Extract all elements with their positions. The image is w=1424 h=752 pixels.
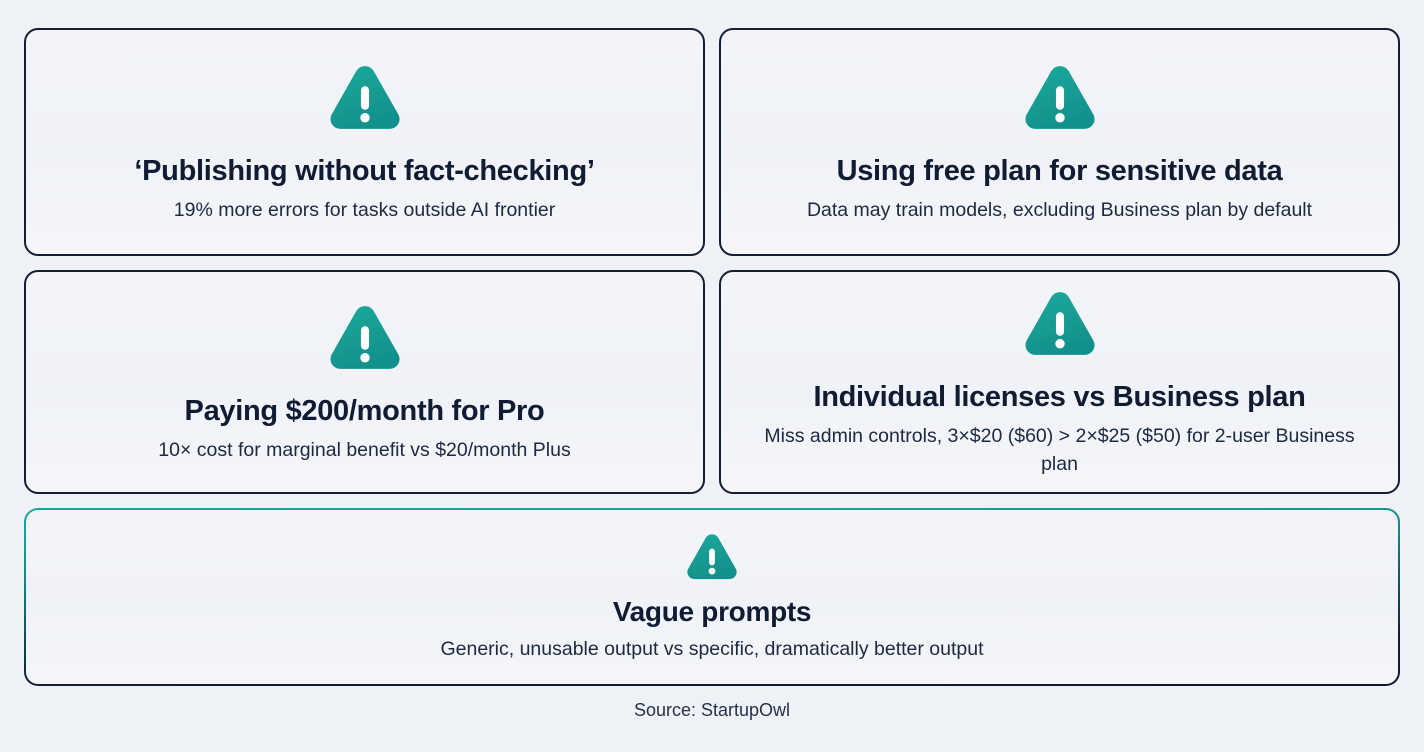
cards-grid: ‘Publishing without fact-checking’ 19% m… (24, 28, 1400, 494)
mistake-card-4[interactable]: Individual licenses vs Business plan Mis… (719, 270, 1400, 494)
mistakes-board: ‘Publishing without fact-checking’ 19% m… (0, 0, 1424, 752)
warning-triangle-icon (323, 56, 407, 154)
card-subtitle: Generic, unusable output vs specific, dr… (440, 636, 983, 664)
source-label: Source: StartupOwl (24, 700, 1400, 742)
card-subtitle: Miss admin controls, 3×$20 ($60) > 2×$25… (747, 423, 1372, 478)
mistake-card-1[interactable]: ‘Publishing without fact-checking’ 19% m… (24, 28, 705, 256)
card-subtitle: 10× cost for marginal benefit vs $20/mon… (158, 437, 570, 465)
mistake-card-2[interactable]: Using free plan for sensitive data Data … (719, 28, 1400, 256)
card-title: Individual licenses vs Business plan (813, 380, 1305, 414)
card-title: Using free plan for sensitive data (837, 154, 1283, 188)
warning-triangle-icon (1018, 56, 1102, 154)
card-subtitle: 19% more errors for tasks outside AI fro… (174, 197, 556, 225)
card-title: Paying $200/month for Pro (185, 394, 545, 428)
mistake-card-5-inner: Vague prompts Generic, unusable output v… (26, 510, 1398, 684)
warning-triangle-icon (323, 296, 407, 394)
warning-triangle-icon (1018, 282, 1102, 380)
mistake-card-5[interactable]: Vague prompts Generic, unusable output v… (24, 508, 1400, 686)
card-subtitle: Data may train models, excluding Busines… (807, 197, 1312, 225)
warning-triangle-icon (682, 527, 742, 595)
card-title: Vague prompts (613, 595, 811, 628)
card-title: ‘Publishing without fact-checking’ (134, 154, 594, 188)
mistake-card-3[interactable]: Paying $200/month for Pro 10× cost for m… (24, 270, 705, 494)
